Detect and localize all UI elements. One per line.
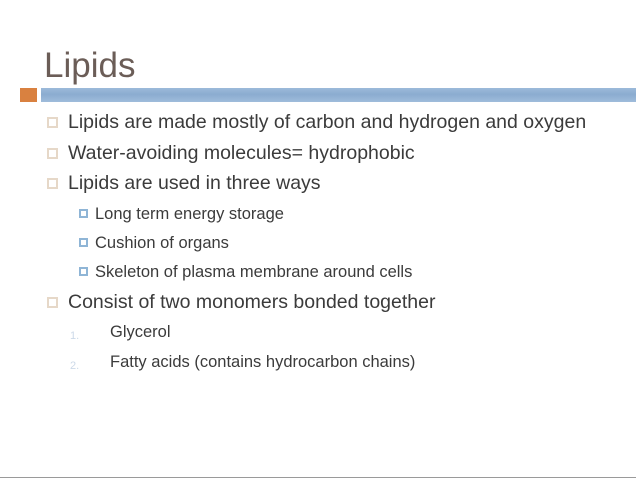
list-number: 1.	[70, 325, 88, 348]
sub-bullet-item: Cushion of organs	[0, 232, 636, 254]
bullet-text: Water-avoiding molecules= hydrophobic	[68, 142, 415, 164]
square-bullet-icon	[79, 209, 88, 218]
sub-bullet-text: Skeleton of plasma membrane around cells	[95, 263, 412, 281]
square-bullet-icon	[47, 117, 58, 128]
slide-body-list: Lipids are made mostly of carbon and hyd…	[0, 110, 636, 375]
sub-bullet-item: Long term energy storage	[0, 203, 636, 225]
bullet-item: Water-avoiding molecules= hydrophobic	[0, 141, 636, 166]
bullet-text: Consist of two monomers bonded together	[68, 291, 435, 313]
square-bullet-icon	[47, 297, 58, 308]
square-bullet-icon	[47, 178, 58, 189]
list-number: 2.	[70, 355, 88, 378]
bullet-item: Consist of two monomers bonded together	[0, 290, 636, 315]
numbered-item: 1. Glycerol	[0, 321, 636, 344]
bullet-item: Lipids are made mostly of carbon and hyd…	[0, 110, 636, 135]
slide-title: Lipids	[44, 45, 135, 87]
numbered-item-text: Glycerol	[110, 323, 171, 341]
square-bullet-icon	[79, 238, 88, 247]
square-bullet-icon	[79, 267, 88, 276]
title-accent-blue-bar	[41, 88, 636, 102]
bullet-text: Lipids are used in three ways	[68, 172, 321, 194]
presentation-slide: Lipids Lipids are made mostly of carbon …	[0, 0, 636, 478]
bullet-text: Lipids are made mostly of carbon and hyd…	[68, 111, 586, 133]
square-bullet-icon	[47, 148, 58, 159]
numbered-item: 2. Fatty acids (contains hydrocarbon cha…	[0, 351, 636, 374]
bullet-item: Lipids are used in three ways	[0, 171, 636, 196]
sub-bullet-item: Skeleton of plasma membrane around cells	[0, 261, 636, 283]
sub-bullet-text: Long term energy storage	[95, 205, 284, 223]
sub-bullet-text: Cushion of organs	[95, 234, 229, 252]
title-accent-orange-block	[20, 88, 37, 102]
numbered-item-text: Fatty acids (contains hydrocarbon chains…	[110, 353, 415, 371]
